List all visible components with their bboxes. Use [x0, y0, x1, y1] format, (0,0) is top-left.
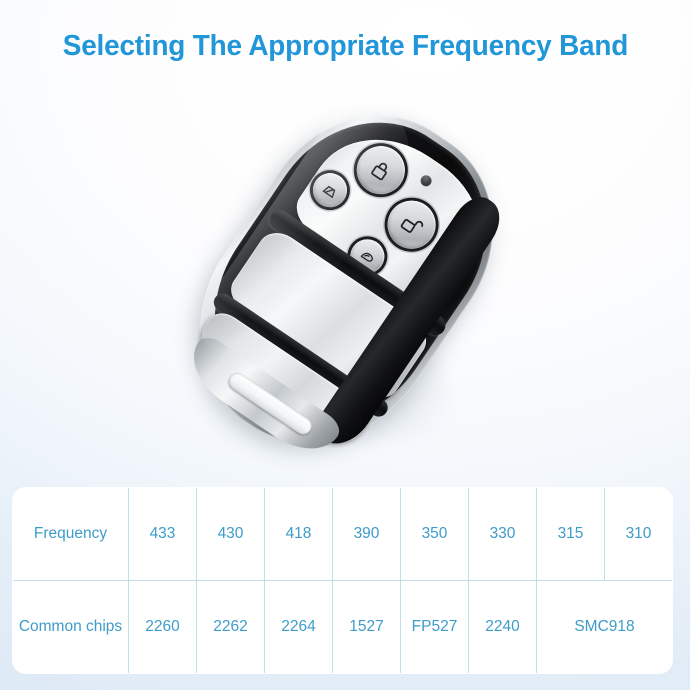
cell-chip-0: 2260	[129, 581, 197, 674]
cell-chip-1: 2262	[197, 581, 265, 674]
cell-frequency-4: 350	[401, 488, 469, 581]
cell-frequency-5: 330	[469, 488, 537, 581]
cell-frequency-2: 418	[265, 488, 333, 581]
table-row: Frequency 433 430 418 390 350 330 315 31…	[13, 488, 673, 581]
trunk-icon	[320, 180, 341, 201]
fob-chrome-shell	[153, 73, 537, 488]
cell-frequency-0: 433	[129, 488, 197, 581]
cell-chip-5: 2240	[469, 581, 537, 674]
cell-chip-2: 2264	[265, 581, 333, 674]
page-title: Selecting The Appropriate Frequency Band	[62, 30, 627, 63]
cell-chip-3: 1527	[333, 581, 401, 674]
cell-frequency-6: 315	[537, 488, 605, 581]
key-fob	[153, 73, 537, 488]
unlock-icon	[396, 209, 427, 240]
cell-chip-6: SMC918	[537, 581, 673, 674]
product-photo	[0, 88, 690, 468]
frequency-chip-table: Frequency 433 430 418 390 350 330 315 31…	[12, 487, 673, 674]
page-title-container: Selecting The Appropriate Frequency Band	[0, 30, 690, 63]
table-row: Common chips 2260 2262 2264 1527 FP527 2…	[13, 581, 673, 674]
row-header-common-chips: Common chips	[13, 581, 129, 674]
cell-frequency-3: 390	[333, 488, 401, 581]
lock-icon	[366, 155, 397, 186]
cell-chip-4: FP527	[401, 581, 469, 674]
page-root: Selecting The Appropriate Frequency Band	[0, 0, 690, 690]
row-header-frequency: Frequency	[13, 488, 129, 581]
cell-frequency-7: 310	[605, 488, 673, 581]
cell-frequency-1: 430	[197, 488, 265, 581]
